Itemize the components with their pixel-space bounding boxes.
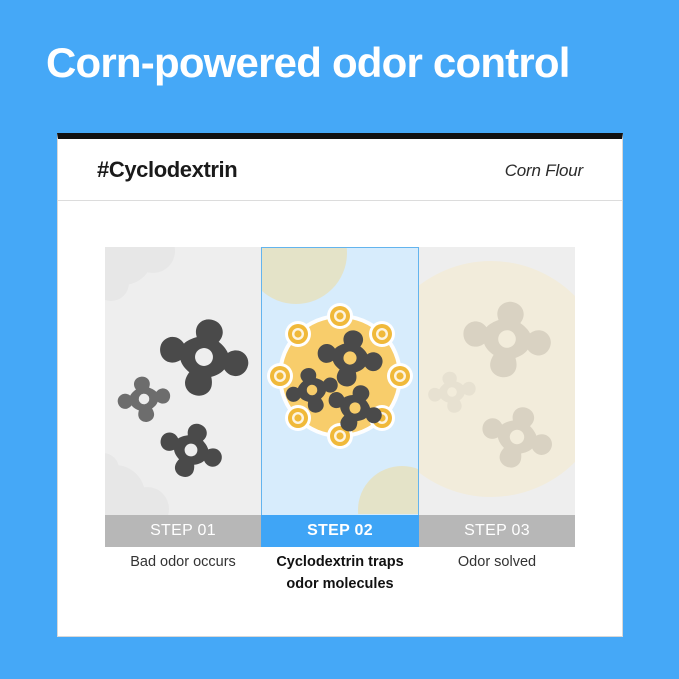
decorative-circle-large	[419, 261, 575, 497]
caption-step-02-line1: Cyclodextrin traps	[276, 554, 403, 570]
panel-step-02[interactable]	[261, 247, 419, 515]
card-title: #Cyclodextrin	[97, 157, 237, 183]
panel-step-03-illustration	[419, 247, 575, 515]
cyclodextrin-capsule	[267, 303, 413, 449]
caption-step-02-line2: odor molecules	[286, 576, 393, 592]
process-diagram: STEP 01 STEP 02 STEP 03	[105, 247, 575, 547]
panel-step-02-illustration	[262, 248, 418, 514]
caption-step-02: Cyclodextrin traps odor molecules	[256, 551, 424, 596]
caption-step-01: Bad odor occurs	[105, 551, 261, 573]
caption-row: Bad odor occurs Cyclodextrin traps odor …	[105, 551, 575, 611]
step-label-03[interactable]: STEP 03	[419, 515, 575, 547]
odor-molecule-medium	[151, 413, 230, 487]
step-label-01[interactable]: STEP 01	[105, 515, 261, 547]
odor-molecule-small	[115, 373, 174, 425]
infographic-card: #Cyclodextrin Corn Flour	[57, 133, 623, 637]
panel-step-03[interactable]	[419, 247, 575, 515]
card-subtitle: Corn Flour	[505, 161, 583, 181]
page-title: Corn-powered odor control	[46, 40, 646, 86]
step-label-02[interactable]: STEP 02	[261, 515, 419, 547]
diagram-panels: STEP 01 STEP 02 STEP 03	[105, 247, 575, 547]
panel-step-01-illustration	[105, 247, 261, 515]
caption-step-03: Odor solved	[419, 551, 575, 573]
card-header: #Cyclodextrin Corn Flour	[58, 139, 622, 201]
panel-step-01[interactable]	[105, 247, 261, 515]
step-label-band: STEP 01 STEP 02 STEP 03	[105, 515, 575, 547]
